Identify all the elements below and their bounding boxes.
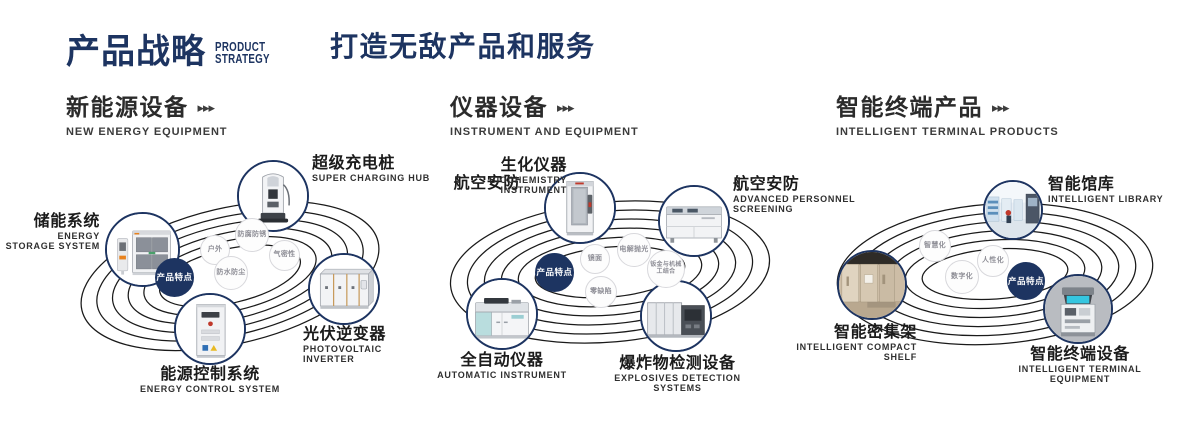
control-cabinet-icon <box>176 295 244 363</box>
product-cn-biochemistry: 生化仪器 <box>442 157 567 174</box>
product-cn-terminal-equipment: 智能终端设备 <box>1005 346 1155 363</box>
feature-label-airtight: 气密性 <box>274 251 296 260</box>
product-label-automatic-instrument: 全自动仪器 AUTOMATIC INSTRUMENT <box>432 352 572 381</box>
explosive-detector-icon <box>642 282 710 350</box>
section-en-2: INTELLIGENT TERMINAL PRODUCTS <box>836 126 1059 138</box>
cluster-instrument: 航空安防 生化仪器 BIOCHEMISTRY INSTRUMENT 航 <box>425 150 795 405</box>
feature-label-main: 产品特点 <box>536 267 572 278</box>
poster-canvas: 产品战略 PRODUCT STRATEGY 打造无敌产品和服务 新能源设备 ▸▸… <box>0 0 1200 422</box>
header-title-cn: 产品战略 <box>66 35 206 69</box>
chevron-right-icon-1: ▸▸▸ <box>557 101 574 114</box>
product-label-pv-inverter: 光伏逆变器 PHOTOVOLTAIC INVERTER <box>303 326 433 365</box>
feature-label-main: 产品特点 <box>1008 276 1044 287</box>
feature-label-smart: 智慧化 <box>924 242 946 251</box>
poster-header: 产品战略 PRODUCT STRATEGY <box>66 24 285 80</box>
section-cn-1: 仪器设备 ▸▸▸ <box>450 96 639 119</box>
terminal-kiosk-icon <box>1045 276 1111 342</box>
feature-bubble-digital[interactable]: 数字化 <box>945 260 979 294</box>
product-circle-screening[interactable] <box>658 185 730 257</box>
product-label-intelligent-library: 智能馆库 INTELLIGENT LIBRARY <box>1048 176 1178 205</box>
section-title-intelligent: 智能终端产品 ▸▸▸ INTELLIGENT TERMINAL PRODUCTS <box>836 96 1059 138</box>
product-cn-automatic-instrument: 全自动仪器 <box>432 352 572 369</box>
feature-label-electropolish: 电解抛光 <box>619 246 648 255</box>
product-en-terminal-equipment: INTELLIGENT TERMINAL EQUIPMENT <box>1005 365 1155 384</box>
product-cn-pv-inverter: 光伏逆变器 <box>303 326 433 343</box>
product-label-biochemistry: 生化仪器 BIOCHEMISTRY INSTRUMENT <box>442 157 567 196</box>
product-en-energy-storage: ENERGY STORAGE SYSTEM <box>5 232 100 251</box>
feature-bubble-zero-defect[interactable]: 零缺陷 <box>585 276 617 308</box>
product-circle-energy-control[interactable] <box>174 293 246 365</box>
feature-label-outdoor: 户外 <box>208 246 223 255</box>
product-label-energy-control: 能源控制系统 ENERGY CONTROL SYSTEM <box>140 366 280 395</box>
feature-label-sheetmetal: 钣金与机械工结合 <box>648 262 684 277</box>
product-circle-intelligent-library[interactable] <box>983 180 1043 240</box>
auto-analyzer-icon <box>468 280 536 348</box>
header-title-en: PRODUCT STRATEGY <box>215 39 270 65</box>
library-room-icon <box>985 182 1041 238</box>
product-en-compact-shelf: INTELLIGENT COMPACT SHELF <box>777 343 917 362</box>
feature-label-anticorrosion: 防腐防锈 <box>237 231 266 240</box>
product-cn-charging-hub: 超级充电桩 <box>312 155 432 172</box>
feature-bubble-mirror[interactable]: 镜面 <box>580 244 610 274</box>
product-circle-pv-inverter[interactable] <box>308 253 380 325</box>
product-label-terminal-equipment: 智能终端设备 INTELLIGENT TERMINAL EQUIPMENT <box>1005 346 1155 385</box>
section-en-1: INSTRUMENT AND EQUIPMENT <box>450 126 639 138</box>
product-circle-automatic-instrument[interactable] <box>466 278 538 350</box>
screening-machine-icon <box>660 187 728 255</box>
chevron-right-icon-0: ▸▸▸ <box>198 101 215 114</box>
feature-label-zero-defect: 零缺陷 <box>590 288 612 297</box>
compact-shelf-icon <box>839 252 905 318</box>
feature-bubble-airtight[interactable]: 气密性 <box>269 240 300 271</box>
feature-bubble-main[interactable]: 产品特点 <box>1007 262 1045 300</box>
product-label-explosives-detection: 爆炸物检测设备 EXPLOSIVES DETECTION SYSTEMS <box>605 355 750 394</box>
product-cn-explosives-detection: 爆炸物检测设备 <box>605 355 750 372</box>
section-cn-0: 新能源设备 ▸▸▸ <box>66 96 227 119</box>
inverter-cabinet-icon <box>310 255 378 323</box>
feature-label-waterproof: 防水防尘 <box>216 269 245 278</box>
chevron-right-icon-2: ▸▸▸ <box>992 101 1009 114</box>
feature-label-humanized: 人性化 <box>982 257 1004 266</box>
product-circle-explosives-detection[interactable] <box>640 280 712 352</box>
feature-bubble-electropolish[interactable]: 电解抛光 <box>617 233 651 267</box>
section-cn-text-1: 仪器设备 <box>450 96 548 119</box>
product-cn-energy-storage: 储能系统 <box>5 213 100 230</box>
cluster-intelligent: 智能馆库 INTELLIGENT LIBRARY 智能密集架 INTELLIGE… <box>815 150 1175 405</box>
product-en-automatic-instrument: AUTOMATIC INSTRUMENT <box>432 371 572 381</box>
feature-bubble-main[interactable]: 产品特点 <box>155 258 194 297</box>
product-circle-terminal-equipment[interactable] <box>1043 274 1113 344</box>
header-slogan: 打造无敌产品和服务 <box>330 33 596 61</box>
feature-bubble-sheetmetal[interactable]: 钣金与机械工结合 <box>647 250 685 288</box>
product-en-energy-control: ENERGY CONTROL SYSTEM <box>140 385 280 395</box>
section-title-instrument: 仪器设备 ▸▸▸ INSTRUMENT AND EQUIPMENT <box>450 96 639 138</box>
section-en-0: NEW ENERGY EQUIPMENT <box>66 126 227 138</box>
product-en-biochemistry: BIOCHEMISTRY INSTRUMENT <box>442 176 567 195</box>
product-cn-intelligent-library: 智能馆库 <box>1048 176 1178 193</box>
product-cn-energy-control: 能源控制系统 <box>140 366 280 383</box>
feature-bubble-waterproof[interactable]: 防水防尘 <box>214 256 248 290</box>
feature-label-main: 产品特点 <box>156 272 192 283</box>
feature-bubble-main[interactable]: 产品特点 <box>535 253 574 292</box>
product-cn-compact-shelf: 智能密集架 <box>777 324 917 341</box>
section-cn-2: 智能终端产品 ▸▸▸ <box>836 96 1059 119</box>
feature-bubble-humanized[interactable]: 人性化 <box>977 245 1009 277</box>
product-circle-compact-shelf[interactable] <box>837 250 907 320</box>
product-en-pv-inverter: PHOTOVOLTAIC INVERTER <box>303 345 433 364</box>
feature-label-mirror: 镜面 <box>588 255 603 264</box>
product-en-intelligent-library: INTELLIGENT LIBRARY <box>1048 195 1178 205</box>
product-label-energy-storage: 储能系统 ENERGY STORAGE SYSTEM <box>5 213 100 252</box>
feature-bubble-anticorrosion[interactable]: 防腐防锈 <box>235 218 269 252</box>
section-cn-text-0: 新能源设备 <box>66 96 189 119</box>
feature-bubble-smart[interactable]: 智慧化 <box>919 230 951 262</box>
product-label-compact-shelf: 智能密集架 INTELLIGENT COMPACT SHELF <box>777 324 917 363</box>
feature-label-digital: 数字化 <box>951 273 973 282</box>
section-cn-text-2: 智能终端产品 <box>836 96 983 119</box>
cluster-new-energy: 储能系统 ENERGY STORAGE SYSTEM 超级充电桩 SUPER C… <box>55 150 405 405</box>
header-title-en-line2: STRATEGY <box>215 54 270 66</box>
product-en-explosives-detection: EXPLOSIVES DETECTION SYSTEMS <box>605 374 750 393</box>
section-title-new-energy: 新能源设备 ▸▸▸ NEW ENERGY EQUIPMENT <box>66 96 227 138</box>
